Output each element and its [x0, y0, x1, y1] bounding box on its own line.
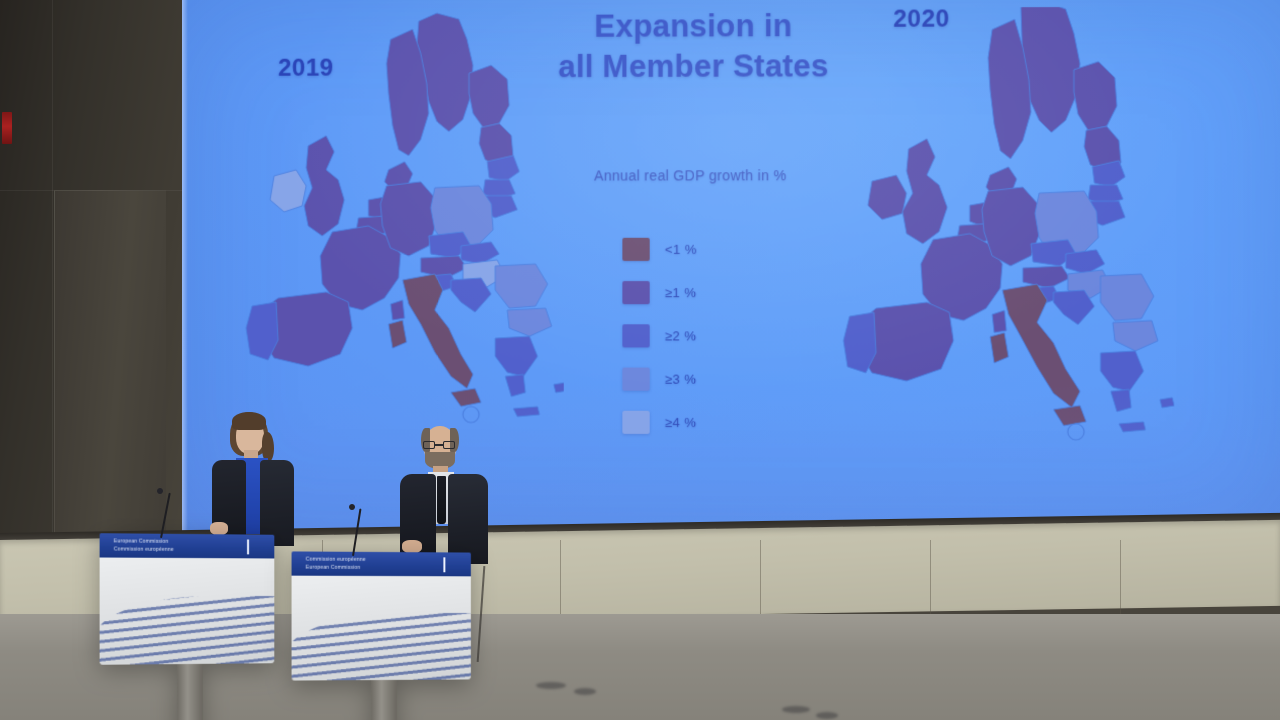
emergency-exit-sign-icon	[2, 112, 12, 144]
year-label-2020: 2020	[893, 5, 949, 33]
podium-banner-accent	[443, 557, 445, 572]
legend-item: <1 %	[622, 228, 754, 271]
speaker-glasses-icon	[443, 441, 455, 449]
speaker-hand	[210, 522, 228, 535]
podium-banner: Commission européenne European Commissio…	[292, 551, 471, 578]
legend-label: ≥2 %	[665, 328, 697, 343]
floor-marker	[536, 682, 566, 689]
legend-label: ≥1 %	[665, 285, 697, 300]
legend-label: <1 %	[665, 242, 697, 257]
podium-stem	[371, 680, 397, 720]
legend-item: ≥4 %	[622, 401, 754, 445]
microphone-head-left	[157, 488, 163, 494]
speaker-suit-jacket	[448, 474, 488, 564]
legend-label: ≥4 %	[665, 415, 697, 430]
podium-banner-line-2: Commission européenne	[114, 546, 174, 554]
speaker-hand	[402, 540, 422, 553]
podium-banner-line-1: Commission européenne	[306, 557, 366, 565]
podium-banner: European Commission Commission européenn…	[100, 533, 275, 560]
slide-title-line-1: Expansion in	[526, 6, 860, 47]
floor-marker	[574, 688, 596, 695]
legend-swatch	[622, 238, 649, 261]
speaker-tie	[437, 476, 446, 524]
microphone-head-right	[349, 504, 355, 510]
left-speaker	[206, 412, 298, 552]
wall-seam	[52, 0, 53, 560]
podium-banner-accent	[247, 539, 249, 554]
podium-stripe-pattern	[100, 596, 275, 665]
press-conference-scene: Expansion in all Member States Annual re…	[0, 0, 1280, 720]
year-label-2019: 2019	[278, 55, 334, 83]
legend-item: ≥3 %	[622, 357, 754, 400]
speaker-glasses-icon	[423, 441, 435, 449]
projection-screen: Expansion in all Member States Annual re…	[182, 0, 1280, 549]
podium-banner-line-2: European Commission	[306, 564, 366, 572]
slide-title-line-2: all Member States	[526, 46, 860, 87]
podium-stripe-pattern	[292, 613, 471, 681]
floor-marker	[816, 712, 838, 719]
legend-item: ≥1 %	[622, 271, 754, 314]
legend-swatch	[622, 411, 649, 434]
floor-marker	[782, 706, 810, 713]
legend-swatch	[622, 324, 649, 347]
podium-body	[292, 576, 471, 681]
podium-banner-text: Commission européenne European Commissio…	[306, 557, 366, 572]
speaker-glasses-bridge	[435, 444, 443, 446]
map-2019	[222, 9, 564, 441]
slide-title: Expansion in all Member States	[526, 6, 860, 87]
legend: <1 % ≥1 % ≥2 % ≥3 % ≥4 %	[622, 228, 754, 445]
room-door	[54, 190, 166, 560]
podium-banner-text: European Commission Commission européenn…	[114, 538, 174, 554]
podium-left: European Commission Commission européenn…	[100, 533, 275, 665]
slide-subtitle: Annual real GDP growth in %	[539, 167, 843, 183]
speaker-jacket	[260, 460, 294, 546]
podium-stem	[178, 664, 204, 720]
podium-body	[100, 558, 275, 665]
map-2020	[817, 7, 1174, 463]
screen-left-edge	[182, 0, 188, 545]
speaker-hair-front	[232, 412, 266, 430]
legend-swatch	[622, 368, 649, 391]
legend-swatch	[622, 281, 649, 304]
podium-right: Commission européenne European Commissio…	[292, 551, 471, 680]
right-speaker	[398, 424, 498, 564]
legend-label: ≥3 %	[665, 372, 697, 387]
legend-item: ≥2 %	[622, 314, 754, 357]
podium-banner-line-1: European Commission	[114, 538, 174, 546]
